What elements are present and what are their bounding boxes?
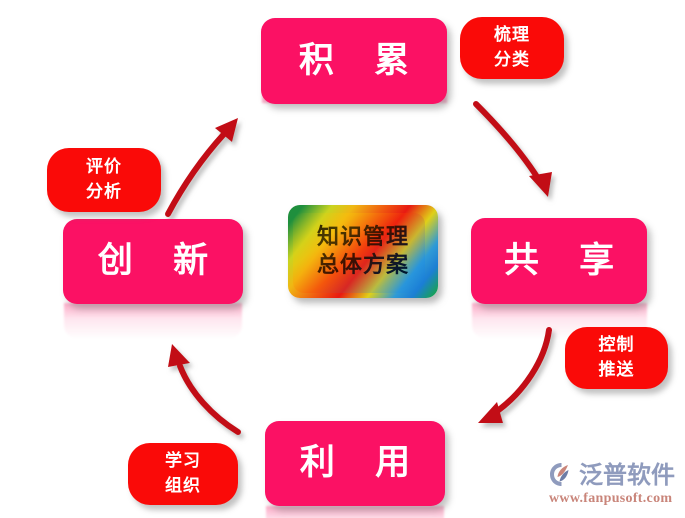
stage-box-share[interactable]: 共 享 [471,218,647,304]
arrow-utilize-to-innovate [168,344,238,432]
badge-evaluate-analyze-line1: 评价 [86,155,122,180]
center-label-line1: 知识管理 [317,224,409,252]
stage-box-utilize[interactable]: 利 用 [265,421,445,506]
badge-study-organize[interactable]: 学习 组织 [128,443,238,505]
badge-control-push-line1: 控制 [599,333,635,358]
badge-sort-classify-line1: 梳理 [494,23,530,48]
badge-evaluate-analyze[interactable]: 评价 分析 [47,148,161,212]
watermark-brand-row: 泛普软件 [548,461,675,488]
center-label-line2: 总体方案 [317,252,409,280]
stage-label-utilize: 利 用 [286,446,424,481]
badge-sort-classify-line2: 分类 [494,48,530,73]
badge-control-push-line2: 推送 [599,358,635,383]
reflection-utilize [266,506,444,518]
stage-box-accumulate[interactable]: 积 累 [261,18,447,104]
watermark-brand-text: 泛普软件 [579,463,675,487]
diagram-canvas: 积 累 共 享 利 用 创 新 知识管理 总体方案 梳理 分类 控制 推送 学习… [0,0,685,518]
arrow-innovate-to-accumulate [168,118,238,214]
reflection-innovate [64,303,242,339]
badge-evaluate-analyze-line2: 分析 [86,180,122,205]
stage-box-innovate[interactable]: 创 新 [63,219,243,304]
stage-label-innovate: 创 新 [84,244,222,279]
arrow-share-to-utilize [478,330,549,423]
badge-study-organize-line2: 组织 [165,474,201,499]
badge-study-organize-line1: 学习 [165,449,201,474]
stage-label-share: 共 享 [490,244,628,279]
watermark-url-text: www.fanpusoft.com [549,491,672,507]
watermark-logo: 泛普软件 www.fanpusoft.com [548,455,678,513]
stage-label-accumulate: 积 累 [285,44,423,79]
arrow-accumulate-to-share [476,104,552,197]
fanpu-mark-icon [548,461,576,488]
center-rainbow-box[interactable]: 知识管理 总体方案 [288,205,438,298]
badge-sort-classify[interactable]: 梳理 分类 [460,17,564,79]
badge-control-push[interactable]: 控制 推送 [565,327,668,389]
